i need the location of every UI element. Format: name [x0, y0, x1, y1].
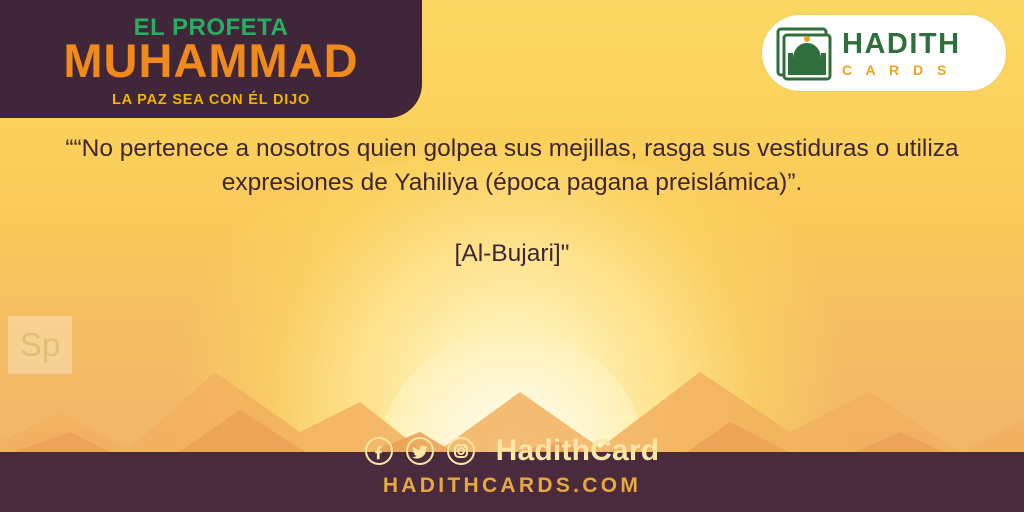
mosque-icon	[776, 25, 832, 81]
brand-name: HadithCard	[496, 434, 660, 468]
logo-text: HADITH C A R D S	[842, 30, 961, 77]
header-badge: EL PROFETA MUHAMMAD LA PAZ SEA CON ÉL DI…	[0, 0, 422, 118]
logo-name-top: HADITH	[842, 30, 961, 59]
logo[interactable]: HADITH C A R D S	[762, 15, 1006, 91]
header-line-2: MUHAMMAD	[0, 36, 422, 85]
sp-watermark: Sp	[8, 316, 72, 374]
footer: HadithCard HADITHCARDS.COM	[0, 434, 1024, 498]
hadith-card: Sp EL PROFETA MUHAMMAD LA PAZ SEA CON ÉL…	[0, 0, 1024, 512]
quote-text: ““No pertenece a nosotros quien golpea s…	[48, 132, 976, 200]
website-url: HADITHCARDS.COM	[0, 474, 1024, 498]
facebook-icon[interactable]	[365, 437, 393, 465]
twitter-icon[interactable]	[406, 437, 434, 465]
logo-name-bottom: C A R D S	[842, 63, 961, 77]
header-line-3: LA PAZ SEA CON ÉL DIJO	[0, 92, 422, 108]
quote-source: [Al-Bujari]"	[48, 240, 976, 268]
instagram-icon[interactable]	[447, 437, 475, 465]
social-row: HadithCard	[0, 434, 1024, 468]
quote-block: ““No pertenece a nosotros quien golpea s…	[0, 132, 1024, 268]
